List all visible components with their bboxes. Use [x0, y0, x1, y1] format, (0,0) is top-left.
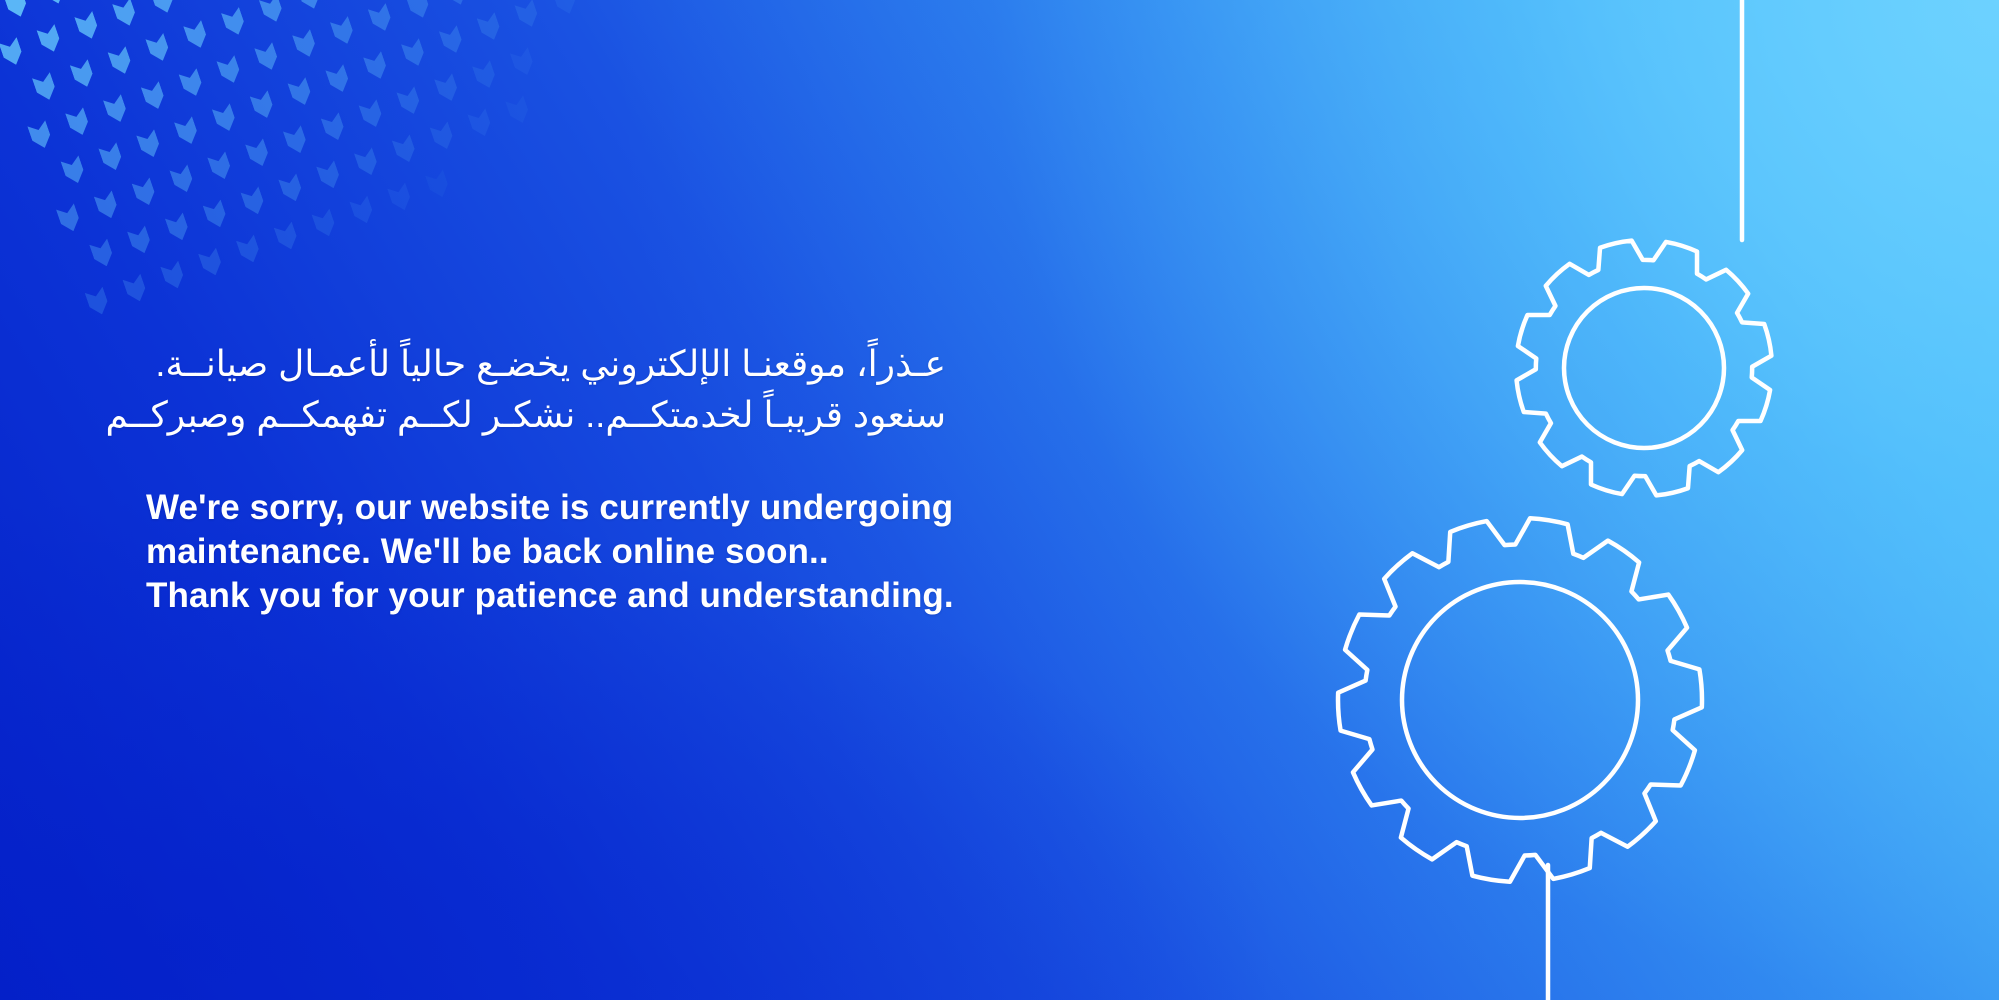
maintenance-page: عـذراً، موقعنـا الإلكتروني يخضـع حالياً … [0, 0, 1999, 1000]
large-gear-inner-circle [1402, 582, 1638, 818]
arabic-line-2: سنعود قريبـاً لخدمتكــم.. نشكـر لكــم تف… [146, 389, 946, 440]
small-gear [1517, 241, 1772, 496]
english-line-2: maintenance. We'll be back online soon.. [146, 530, 946, 574]
english-line-1: We're sorry, our website is currently un… [146, 486, 946, 530]
maintenance-message: عـذراً، موقعنـا الإلكتروني يخضـع حالياً … [146, 338, 946, 618]
english-message: We're sorry, our website is currently un… [146, 486, 946, 618]
english-line-3: Thank you for your patience and understa… [146, 574, 946, 618]
arabic-line-1: عـذراً، موقعنـا الإلكتروني يخضـع حالياً … [146, 338, 946, 389]
large-gear [1338, 518, 1702, 881]
arabic-message: عـذراً، موقعنـا الإلكتروني يخضـع حالياً … [146, 338, 946, 440]
small-gear-inner-circle [1564, 288, 1724, 448]
